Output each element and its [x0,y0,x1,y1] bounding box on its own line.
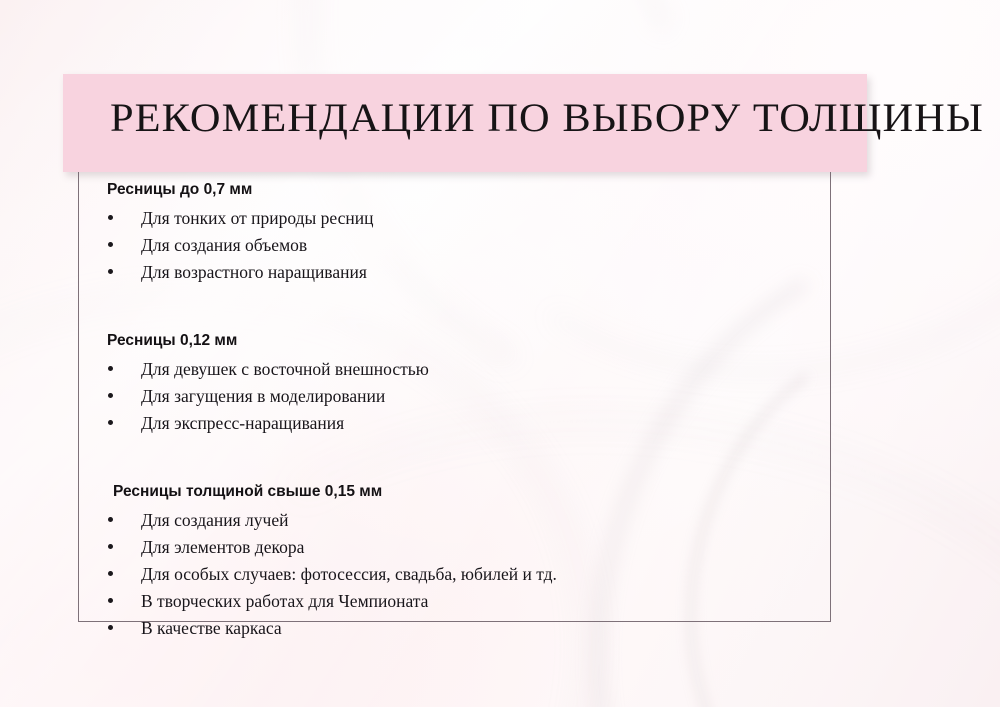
list-item: В качестве каркаса [78,615,831,642]
list-item-label: Для возрастного наращивания [141,262,367,282]
bullet-dot-icon [108,420,113,425]
list-item-label: Для создания объемов [141,235,307,255]
bullet-dot-icon [108,625,113,630]
bullet-dot-icon [108,571,113,576]
section-heading: Ресницы 0,12 мм [107,330,831,352]
list-item: Для создания лучей [78,507,831,534]
bullet-list: Для тонких от природы ресниц Для создани… [78,205,831,286]
list-item-label: Для создания лучей [141,510,288,530]
section-group: Ресницы 0,12 мм Для девушек с восточной … [78,330,831,437]
list-item: Для тонких от природы ресниц [78,205,831,232]
list-item: Для особых случаев: фотосессия, свадьба,… [78,561,831,588]
list-item: Для экспресс-наращивания [78,410,831,437]
bullet-list: Для создания лучей Для элементов декора … [78,507,831,642]
list-item: В творческих работах для Чемпионата [78,588,831,615]
bullet-dot-icon [108,517,113,522]
list-item: Для создания объемов [78,232,831,259]
presentation-slide: РЕКОМЕНДАЦИИ ПО ВЫБОРУ ТОЛЩИНЫ Ресницы д… [0,0,1000,707]
list-item-label: Для загущения в моделировании [141,386,385,406]
list-item-label: В творческих работах для Чемпионата [141,591,428,611]
list-item-label: Для девушек с восточной внешностью [141,359,429,379]
bullet-dot-icon [108,242,113,247]
section-heading: Ресницы до 0,7 мм [107,179,831,201]
bullet-dot-icon [108,269,113,274]
bullet-dot-icon [108,366,113,371]
section-heading: Ресницы толщиной свыше 0,15 мм [113,481,831,503]
section-group: Ресницы до 0,7 мм Для тонких от природы … [78,179,831,286]
bullet-list: Для девушек с восточной внешностью Для з… [78,356,831,437]
list-item-label: Для особых случаев: фотосессия, свадьба,… [141,564,557,584]
slide-body: Ресницы до 0,7 мм Для тонких от природы … [78,157,831,622]
list-item-label: В качестве каркаса [141,618,282,638]
bullet-dot-icon [108,598,113,603]
slide-title: РЕКОМЕНДАЦИИ ПО ВЫБОРУ ТОЛЩИНЫ [110,90,894,146]
list-item-label: Для элементов декора [141,537,304,557]
section-group: Ресницы толщиной свыше 0,15 мм Для созда… [78,481,831,642]
list-item: Для загущения в моделировании [78,383,831,410]
list-item: Для элементов декора [78,534,831,561]
bullet-dot-icon [108,544,113,549]
bullet-dot-icon [108,393,113,398]
list-item: Для девушек с восточной внешностью [78,356,831,383]
list-item-label: Для тонких от природы ресниц [141,208,374,228]
list-item: Для возрастного наращивания [78,259,831,286]
bullet-dot-icon [108,215,113,220]
list-item-label: Для экспресс-наращивания [141,413,344,433]
